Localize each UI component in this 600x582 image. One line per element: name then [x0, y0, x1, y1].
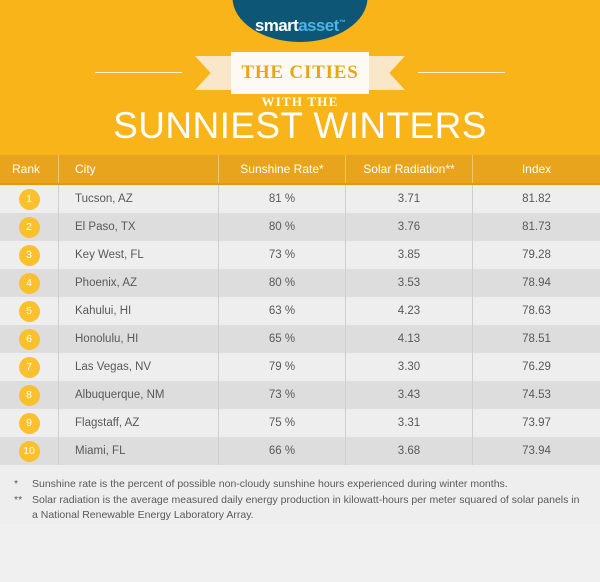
- solar-radiation-cell: 3.30: [345, 353, 472, 381]
- table-row[interactable]: 9Flagstaff, AZ75 %3.3173.97: [0, 409, 600, 437]
- column-header-solar-radiation[interactable]: Solar Radiation**: [345, 155, 472, 183]
- index-cell: 79.28: [472, 241, 600, 269]
- table-row[interactable]: 8Albuquerque, NM73 %3.4374.53: [0, 381, 600, 409]
- solar-radiation-cell: 3.76: [345, 213, 472, 241]
- column-header-rank[interactable]: Rank: [0, 155, 58, 183]
- rank-cell: 5: [0, 297, 58, 325]
- footnote-marker: **: [14, 493, 32, 523]
- logo-wordmark: smartasset™: [255, 17, 345, 34]
- table-row[interactable]: 7Las Vegas, NV79 %3.3076.29: [0, 353, 600, 381]
- index-cell: 73.97: [472, 409, 600, 437]
- column-header-sunshine-rate[interactable]: Sunshine Rate*: [218, 155, 345, 183]
- title-ribbon: THE CITIES: [195, 52, 405, 94]
- table-row[interactable]: 5Kahului, HI63 %4.2378.63: [0, 297, 600, 325]
- city-cell: El Paso, TX: [58, 213, 218, 241]
- rank-cell: 6: [0, 325, 58, 353]
- column-header-index[interactable]: Index: [472, 155, 600, 183]
- rank-cell: 1: [0, 185, 58, 213]
- sunshine-rate-cell: 80 %: [218, 269, 345, 297]
- sunshine-rate-cell: 81 %: [218, 185, 345, 213]
- logo-word-asset: asset: [298, 16, 338, 35]
- ribbon-row: THE CITIES: [0, 52, 600, 94]
- rank-badge: 2: [19, 217, 40, 238]
- footnote-text: Sunshine rate is the percent of possible…: [32, 477, 582, 492]
- sunshine-rate-cell: 65 %: [218, 325, 345, 353]
- table-row[interactable]: 3Key West, FL73 %3.8579.28: [0, 241, 600, 269]
- solar-radiation-cell: 3.71: [345, 185, 472, 213]
- rank-badge: 5: [19, 301, 40, 322]
- sunshine-rate-cell: 79 %: [218, 353, 345, 381]
- solar-radiation-cell: 3.43: [345, 381, 472, 409]
- rank-cell: 2: [0, 213, 58, 241]
- city-cell: Tucson, AZ: [58, 185, 218, 213]
- table-row[interactable]: 2El Paso, TX80 %3.7681.73: [0, 213, 600, 241]
- index-cell: 73.94: [472, 437, 600, 465]
- rank-badge: 8: [19, 385, 40, 406]
- sunshine-rate-cell: 80 %: [218, 213, 345, 241]
- rank-cell: 8: [0, 381, 58, 409]
- city-cell: Kahului, HI: [58, 297, 218, 325]
- table-row[interactable]: 6Honolulu, HI65 %4.1378.51: [0, 325, 600, 353]
- index-cell: 81.82: [472, 185, 600, 213]
- table-body: 1Tucson, AZ81 %3.7181.822El Paso, TX80 %…: [0, 185, 600, 465]
- rank-cell: 4: [0, 269, 58, 297]
- ribbon-title: THE CITIES: [241, 62, 358, 84]
- city-cell: Key West, FL: [58, 241, 218, 269]
- rank-badge: 6: [19, 329, 40, 350]
- table-header-row: Rank City Sunshine Rate* Solar Radiation…: [0, 155, 600, 185]
- index-cell: 78.94: [472, 269, 600, 297]
- city-cell: Flagstaff, AZ: [58, 409, 218, 437]
- rule-right-decoration: [418, 72, 505, 73]
- index-cell: 78.63: [472, 297, 600, 325]
- rank-badge: 9: [19, 413, 40, 434]
- trademark-icon: ™: [339, 19, 345, 26]
- city-cell: Las Vegas, NV: [58, 353, 218, 381]
- sunshine-rate-cell: 73 %: [218, 241, 345, 269]
- solar-radiation-cell: 3.53: [345, 269, 472, 297]
- rank-cell: 10: [0, 437, 58, 465]
- footnote-text: Solar radiation is the average measured …: [32, 493, 582, 523]
- rank-badge: 4: [19, 273, 40, 294]
- ribbon-panel: THE CITIES: [231, 52, 369, 94]
- footnotes-section: * Sunshine rate is the percent of possib…: [0, 465, 600, 524]
- logo-word-smart: smart: [255, 16, 298, 35]
- footnote-single-asterisk: * Sunshine rate is the percent of possib…: [14, 477, 582, 492]
- city-cell: Honolulu, HI: [58, 325, 218, 353]
- index-cell: 76.29: [472, 353, 600, 381]
- solar-radiation-cell: 3.31: [345, 409, 472, 437]
- index-cell: 74.53: [472, 381, 600, 409]
- rule-left-decoration: [95, 72, 182, 73]
- index-cell: 78.51: [472, 325, 600, 353]
- rank-badge: 10: [19, 441, 40, 462]
- rank-cell: 9: [0, 409, 58, 437]
- rank-badge: 7: [19, 357, 40, 378]
- solar-radiation-cell: 4.23: [345, 297, 472, 325]
- column-header-city[interactable]: City: [58, 155, 218, 183]
- rank-cell: 7: [0, 353, 58, 381]
- hero-banner: smartasset™ THE CITIES WITH THE SUNNIEST…: [0, 0, 600, 155]
- rank-badge: 3: [19, 245, 40, 266]
- footnote-marker: *: [14, 477, 32, 492]
- table-row[interactable]: 10Miami, FL66 %3.6873.94: [0, 437, 600, 465]
- index-cell: 81.73: [472, 213, 600, 241]
- table-row[interactable]: 1Tucson, AZ81 %3.7181.82: [0, 185, 600, 213]
- solar-radiation-cell: 3.85: [345, 241, 472, 269]
- sunshine-rate-cell: 63 %: [218, 297, 345, 325]
- rank-cell: 3: [0, 241, 58, 269]
- city-cell: Miami, FL: [58, 437, 218, 465]
- city-cell: Phoenix, AZ: [58, 269, 218, 297]
- footnote-double-asterisk: ** Solar radiation is the average measur…: [14, 493, 582, 523]
- solar-radiation-cell: 4.13: [345, 325, 472, 353]
- city-cell: Albuquerque, NM: [58, 381, 218, 409]
- page-title: SUNNIEST WINTERS: [0, 105, 600, 147]
- sunshine-rate-cell: 73 %: [218, 381, 345, 409]
- rankings-table: Rank City Sunshine Rate* Solar Radiation…: [0, 155, 600, 465]
- solar-radiation-cell: 3.68: [345, 437, 472, 465]
- sunshine-rate-cell: 66 %: [218, 437, 345, 465]
- sunshine-rate-cell: 75 %: [218, 409, 345, 437]
- smartasset-logo[interactable]: smartasset™: [233, 0, 368, 42]
- rank-badge: 1: [19, 189, 40, 210]
- table-row[interactable]: 4Phoenix, AZ80 %3.5378.94: [0, 269, 600, 297]
